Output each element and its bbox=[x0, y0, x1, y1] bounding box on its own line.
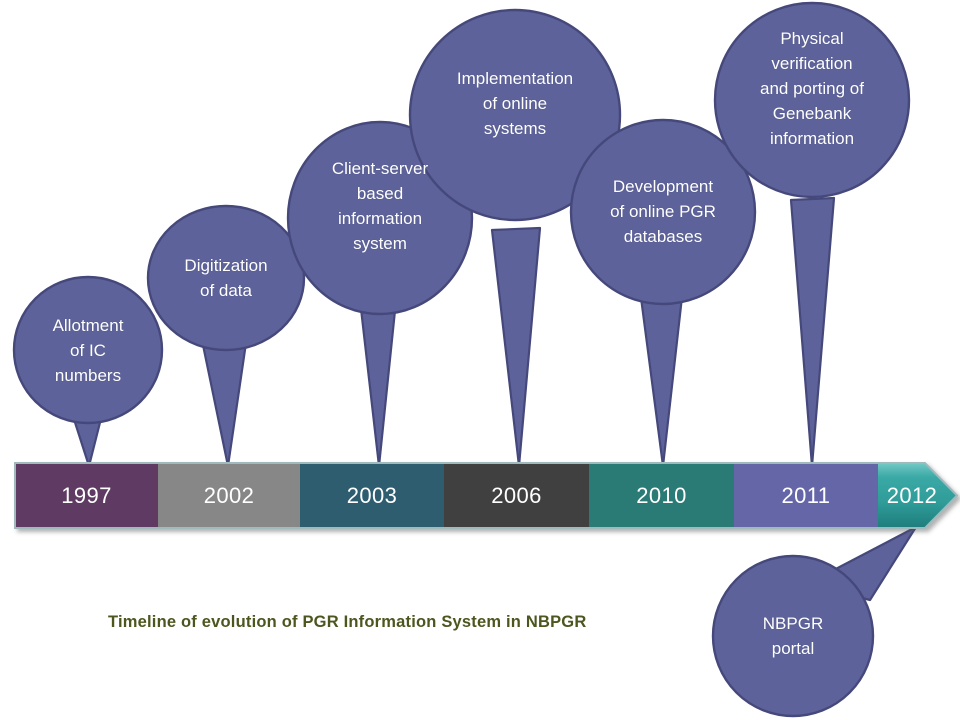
timeline-diagram: Allotment of IC numbers Digitization of … bbox=[0, 0, 960, 720]
year-label-2002: 2002 bbox=[158, 485, 300, 507]
tail-2002 bbox=[203, 343, 246, 466]
year-label-2003: 2003 bbox=[300, 485, 444, 507]
bubble-1997[interactable] bbox=[14, 277, 162, 423]
bubble-2002[interactable] bbox=[148, 206, 304, 350]
year-label-2012: 2012 bbox=[876, 485, 948, 507]
bubble-2011[interactable] bbox=[715, 3, 909, 197]
year-label-2006: 2006 bbox=[444, 485, 589, 507]
bubble-2012-portal[interactable] bbox=[713, 556, 873, 716]
year-label-1997: 1997 bbox=[15, 485, 158, 507]
tail-2011 bbox=[791, 198, 834, 466]
callout-bubbles[interactable] bbox=[14, 3, 909, 716]
tail-2010 bbox=[640, 288, 683, 466]
year-label-2010: 2010 bbox=[589, 485, 734, 507]
tail-2006 bbox=[492, 228, 540, 466]
diagram-vector-layer bbox=[0, 0, 960, 720]
year-label-2011: 2011 bbox=[734, 485, 878, 507]
diagram-caption: Timeline of evolution of PGR Information… bbox=[108, 613, 668, 632]
